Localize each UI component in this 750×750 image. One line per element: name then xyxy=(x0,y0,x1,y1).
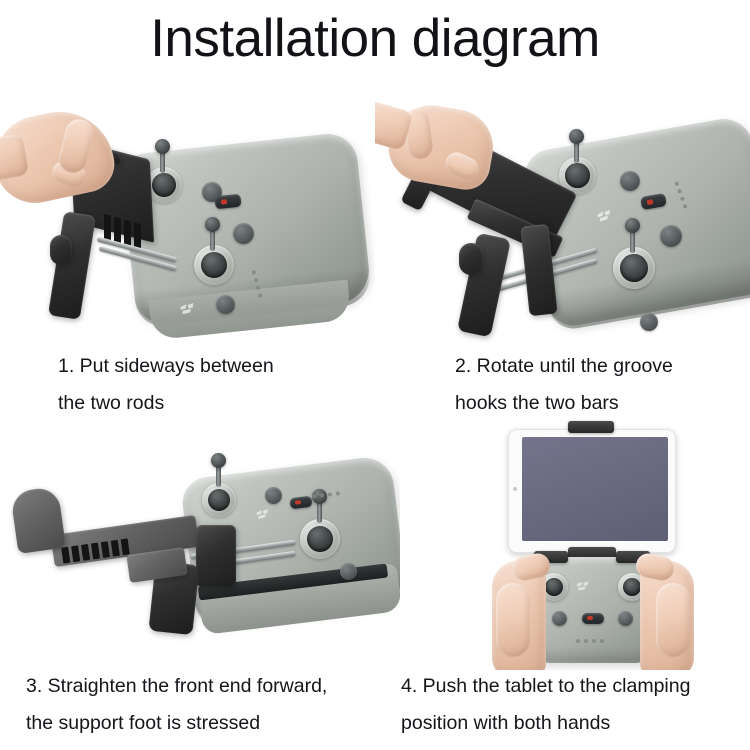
dji-logo-3 xyxy=(255,508,272,523)
right-hand-fingers-4 xyxy=(656,583,690,657)
dji-logo-glyph-2 xyxy=(596,209,616,223)
step-1-caption: 1. Put sideways between the two rods xyxy=(58,348,274,422)
step-2-photo xyxy=(375,95,750,345)
step-3-photo xyxy=(0,425,400,670)
support-foot-hinge-2 xyxy=(459,243,483,275)
step-4-caption-line-1: 4. Push the tablet to the clamping xyxy=(401,675,690,697)
step-2-caption: 2. Rotate until the groove hooks the two… xyxy=(455,348,673,422)
support-foot-hinge-1 xyxy=(50,235,72,265)
flight-mode-switch-4 xyxy=(582,613,604,624)
return-home-button-1 xyxy=(233,223,254,244)
tablet-screen xyxy=(522,437,668,541)
power-button-3 xyxy=(265,487,282,504)
page-title: Installation diagram xyxy=(0,8,750,70)
flight-mode-switch-1 xyxy=(214,194,241,210)
left-hand-fingers-4 xyxy=(496,583,530,657)
step-2-caption-line-1: 2. Rotate until the groove xyxy=(455,355,673,377)
battery-leds-4 xyxy=(576,639,604,643)
dji-logo-1 xyxy=(179,302,198,318)
joystick-right-knob-2 xyxy=(625,218,640,233)
return-home-button-2 xyxy=(660,225,682,247)
step-3-caption-line-1: 3. Straighten the front end forward, xyxy=(26,675,327,697)
dji-logo-glyph-1 xyxy=(179,302,198,315)
joystick-left-knob-2 xyxy=(569,129,584,144)
joystick-right-2 xyxy=(613,247,655,289)
holder-top-jaw xyxy=(568,421,614,433)
record-button-2 xyxy=(640,313,658,331)
step-1-caption-line-1: 1. Put sideways between xyxy=(58,355,274,377)
joystick-left-knob-3 xyxy=(211,453,226,468)
dji-logo-glyph-4 xyxy=(576,581,592,591)
step-4-photo xyxy=(400,415,750,670)
dji-logo-4 xyxy=(576,581,592,594)
return-home-button-4 xyxy=(618,611,633,626)
clamp-arm-end-cap-3 xyxy=(10,486,66,554)
step-4-caption-line-2: position with both hands xyxy=(401,705,690,742)
power-button-2 xyxy=(620,171,640,191)
joystick-left-knob-1 xyxy=(155,139,170,154)
holder-hinge-3 xyxy=(196,525,236,587)
step-1-photo xyxy=(0,95,375,345)
dji-logo-glyph-3 xyxy=(255,508,272,520)
return-home-button-3 xyxy=(340,563,357,580)
photo-hand-placing-holder xyxy=(0,95,375,345)
joystick-right-knob-1 xyxy=(205,217,220,232)
photo-holder-straightened xyxy=(0,425,400,670)
joystick-right-1 xyxy=(194,245,234,285)
power-button-4 xyxy=(552,611,567,626)
step-3-caption: 3. Straighten the front end forward, the… xyxy=(26,668,327,742)
tablet-front-camera xyxy=(513,487,517,491)
photo-hand-rotating-holder xyxy=(375,95,750,345)
joystick-right-3 xyxy=(300,519,340,559)
step-1-caption-line-2: the two rods xyxy=(58,385,274,422)
joystick-left-3 xyxy=(202,483,236,517)
step-3-caption-line-2: the support foot is stressed xyxy=(26,705,327,742)
installation-diagram-page: Installation diagram xyxy=(0,0,750,750)
support-foot-1 xyxy=(48,211,96,320)
step-4-caption: 4. Push the tablet to the clamping posit… xyxy=(401,668,690,742)
record-button-1 xyxy=(216,295,235,314)
photo-two-hands-holding-tablet xyxy=(400,415,750,670)
